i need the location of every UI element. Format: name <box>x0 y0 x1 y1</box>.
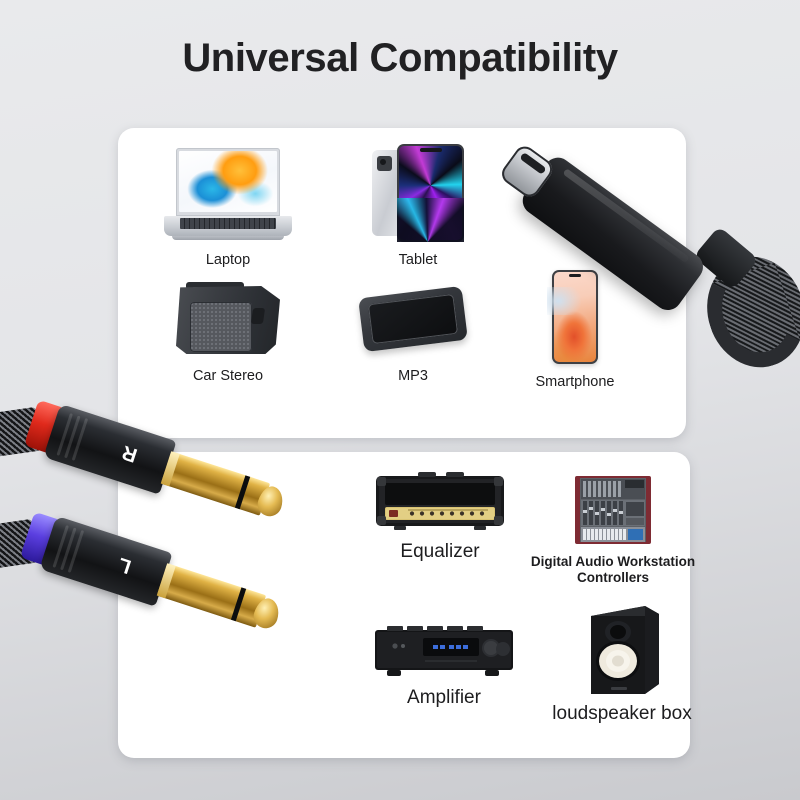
mixing-console-icon <box>575 476 651 544</box>
car-stereo-speaker-icon <box>168 278 288 360</box>
mp3-body <box>358 286 468 352</box>
device-item-car-stereo: Car Stereo <box>148 278 308 386</box>
device-item-laptop: Laptop <box>146 148 310 270</box>
tablet-icon <box>372 144 464 242</box>
plug-barrel-right: R <box>43 404 176 495</box>
usb-c-housing <box>517 152 708 315</box>
studio-monitor-svg <box>581 604 663 696</box>
device-label-laptop: Laptop <box>146 252 310 270</box>
audio-label-amplifier: Amplifier <box>354 686 534 709</box>
tablet-wallpaper <box>399 146 462 240</box>
laptop-keyboard <box>180 218 276 229</box>
trs-plug-pair: R L <box>0 396 322 756</box>
laptop-icon <box>164 148 292 240</box>
infographic-stage: Universal Compatibility Laptop <box>0 0 800 800</box>
audio-item-amplifier: Amplifier <box>354 624 534 709</box>
audio-label-equalizer: Equalizer <box>350 540 530 563</box>
audio-item-daw: Digital Audio Workstation Controllers <box>518 476 708 587</box>
plug-channel-label-left: L <box>115 552 134 578</box>
device-item-tablet: Tablet <box>336 144 500 270</box>
car-stereo-cabinet <box>176 286 280 354</box>
device-label-smartphone: Smartphone <box>510 374 640 392</box>
amplifier-head-icon <box>372 470 508 532</box>
plug-barrel-left: L <box>39 516 172 607</box>
car-stereo-grille <box>190 302 252 352</box>
laptop-base <box>164 216 292 236</box>
page-title: Universal Compatibility <box>0 36 800 81</box>
smartphone-notch <box>569 274 581 277</box>
usb-c-connector <box>512 132 792 372</box>
laptop-screen <box>176 148 280 216</box>
car-stereo-handle <box>251 308 265 324</box>
av-receiver-svg <box>373 624 515 678</box>
mixing-console-svg <box>575 476 651 544</box>
amplifier-head-svg <box>372 470 508 532</box>
tablet-camera-module <box>377 156 392 171</box>
av-receiver-icon <box>373 624 515 678</box>
audio-item-speaker: loudspeaker box <box>536 604 708 725</box>
mp3-player-icon <box>361 286 465 352</box>
device-label-car-stereo: Car Stereo <box>148 368 308 386</box>
mp3-screen <box>368 294 458 344</box>
plug-shaft-left <box>157 563 266 627</box>
device-label-tablet: Tablet <box>336 252 500 270</box>
laptop-wallpaper <box>179 151 277 212</box>
audio-label-speaker: loudspeaker box <box>536 702 708 725</box>
plug-channel-label-right: R <box>119 440 140 466</box>
studio-monitor-icon <box>581 604 663 696</box>
audio-item-equalizer: Equalizer <box>350 470 530 563</box>
device-item-mp3: MP3 <box>330 286 496 386</box>
laptop-foot <box>172 236 284 240</box>
plug-shaft-right <box>161 451 270 515</box>
audio-label-daw: Digital Audio Workstation Controllers <box>526 554 701 587</box>
tablet-camera-notch <box>420 148 442 152</box>
device-label-mp3: MP3 <box>330 368 496 386</box>
tablet-front-unit <box>397 144 464 242</box>
